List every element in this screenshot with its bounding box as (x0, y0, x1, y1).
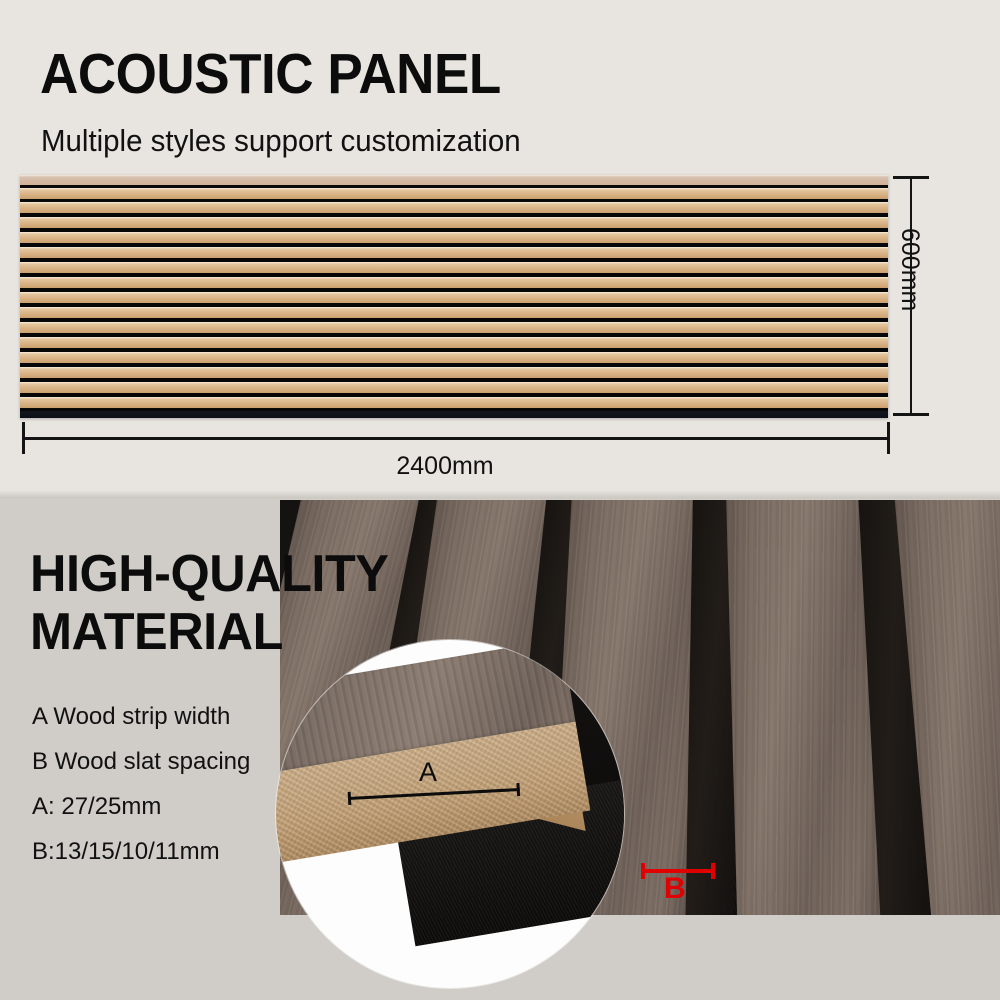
oak-slat-panel-image (20, 175, 888, 418)
slat (20, 322, 888, 333)
wood-grain (725, 500, 884, 915)
dimension-cap (887, 422, 890, 454)
spec-item-a-value: A: 27/25mm (32, 795, 250, 819)
slat (20, 352, 888, 363)
section-title-line1: HIGH-QUALITY (30, 545, 388, 603)
slat (20, 307, 888, 318)
magnifier-circle (276, 640, 624, 988)
slat (20, 367, 888, 378)
spec-item-a-label: A Wood strip width (32, 705, 250, 729)
panel-felt-backing (20, 411, 888, 418)
slat (20, 175, 888, 185)
section-title: HIGH-QUALITY MATERIAL (30, 545, 388, 661)
slat (20, 397, 888, 408)
top-section: ACOUSTIC PANEL Multiple styles support c… (0, 0, 1000, 500)
slat (20, 382, 888, 393)
slat (20, 188, 888, 199)
width-dimension-label: 2400mm (0, 452, 890, 481)
a-dimension-label: A (419, 757, 437, 788)
slat (20, 247, 888, 258)
slat (20, 337, 888, 348)
bottom-section: HIGH-QUALITY MATERIAL A Wood strip width… (0, 500, 1000, 1000)
spec-list: A Wood strip width B Wood slat spacing A… (32, 705, 250, 885)
page-title: ACOUSTIC PANEL (40, 46, 501, 103)
spec-item-b-value: B:13/15/10/11mm (32, 840, 250, 864)
dimension-cap (22, 422, 25, 454)
slat (20, 292, 888, 303)
spec-item-b-label: B Wood slat spacing (32, 750, 250, 774)
page-subtitle: Multiple styles support customization (41, 125, 521, 156)
photo-slat (725, 500, 884, 915)
width-dimension-line (22, 437, 890, 440)
dimension-cap (893, 176, 929, 179)
dimension-cap (893, 413, 929, 416)
slat (20, 232, 888, 243)
section-title-line2: MATERIAL (30, 603, 388, 661)
product-infographic: ACOUSTIC PANEL Multiple styles support c… (0, 0, 1000, 1000)
b-dimension-label: B (664, 872, 686, 906)
slat (20, 262, 888, 273)
slat (20, 277, 888, 288)
slat (20, 202, 888, 213)
height-dimension-label: 600mm (895, 228, 924, 311)
slat (20, 217, 888, 228)
